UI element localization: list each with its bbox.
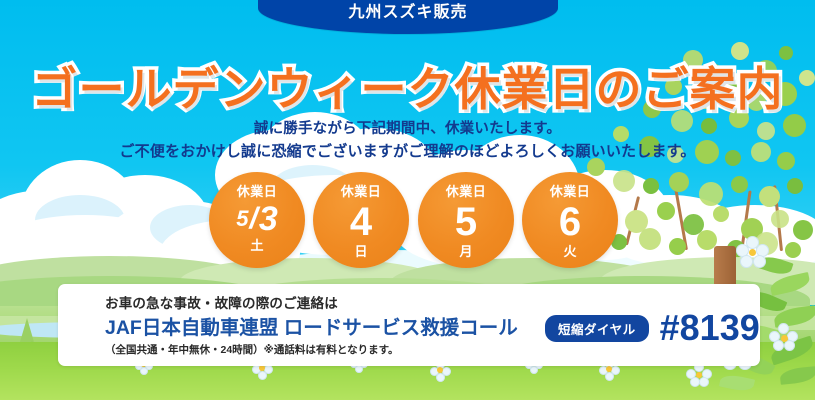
closed-day-heading: 休業日 bbox=[209, 185, 305, 198]
closed-day-heading: 休業日 bbox=[522, 185, 618, 198]
dial-label-badge: 短縮ダイヤル bbox=[545, 315, 649, 342]
closed-day-weekday: 土 bbox=[209, 239, 305, 252]
closed-day-heading: 休業日 bbox=[418, 185, 514, 198]
page-title: ゴールデンウィーク休業日のご案内 bbox=[0, 53, 815, 119]
closed-day-number: 4 bbox=[313, 202, 409, 242]
closed-day-number: 6 bbox=[522, 202, 618, 242]
closed-day-circle: 休業日 6 火 bbox=[522, 172, 618, 268]
closed-day-date: 5/3 bbox=[209, 202, 305, 236]
closed-days-list: 休業日 5/3 土 休業日 4 日 休業日 5 月 休業日 6 火 bbox=[0, 172, 815, 276]
gw-holiday-banner: 九州スズキ販売 ゴールデンウィーク休業日のご案内 誠に勝手ながら下記期間中、休業… bbox=[0, 0, 815, 400]
closed-day-number: 5 bbox=[418, 202, 514, 242]
closed-day-circle: 休業日 5/3 土 bbox=[209, 172, 305, 268]
subtitle-block: 誠に勝手ながら下記期間中、休業いたします。 ご不便をおかけし誠に恐縮でございます… bbox=[0, 118, 815, 164]
date-slash: / bbox=[248, 204, 258, 234]
subtitle-line-2: ご不便をおかけし誠に恐縮でございますがご理解のほどよろしくお願いいたします。 bbox=[0, 140, 815, 163]
company-tab-label: 九州スズキ販売 bbox=[348, 0, 467, 26]
dial-number[interactable]: #8139 bbox=[660, 310, 760, 346]
closed-day-weekday: 火 bbox=[522, 245, 618, 258]
dial-group: 短縮ダイヤル #8139 bbox=[545, 310, 760, 346]
roadside-service-name: JAF日本自動車連盟 ロードサービス救援コール bbox=[105, 316, 518, 340]
roadside-assistance-box: お車の急な事故・故障の際のご連絡は JAF日本自動車連盟 ロードサービス救援コー… bbox=[58, 284, 760, 366]
closed-day-heading: 休業日 bbox=[313, 185, 409, 198]
roadside-note: （全国共通・年中無休・24時間）※通話料は有料となります。 bbox=[105, 344, 518, 358]
closed-day-month: 5 bbox=[236, 208, 248, 230]
closed-day-weekday: 月 bbox=[418, 245, 514, 258]
roadside-lead-text: お車の急な事故・故障の際のご連絡は bbox=[105, 295, 518, 313]
closed-day-circle: 休業日 4 日 bbox=[313, 172, 409, 268]
closed-day-circle: 休業日 5 月 bbox=[418, 172, 514, 268]
roadside-text-group: お車の急な事故・故障の際のご連絡は JAF日本自動車連盟 ロードサービス救援コー… bbox=[105, 295, 518, 358]
closed-day-number: 3 bbox=[259, 202, 278, 236]
subtitle-line-1: 誠に勝手ながら下記期間中、休業いたします。 bbox=[0, 118, 815, 140]
closed-day-weekday: 日 bbox=[313, 245, 409, 258]
